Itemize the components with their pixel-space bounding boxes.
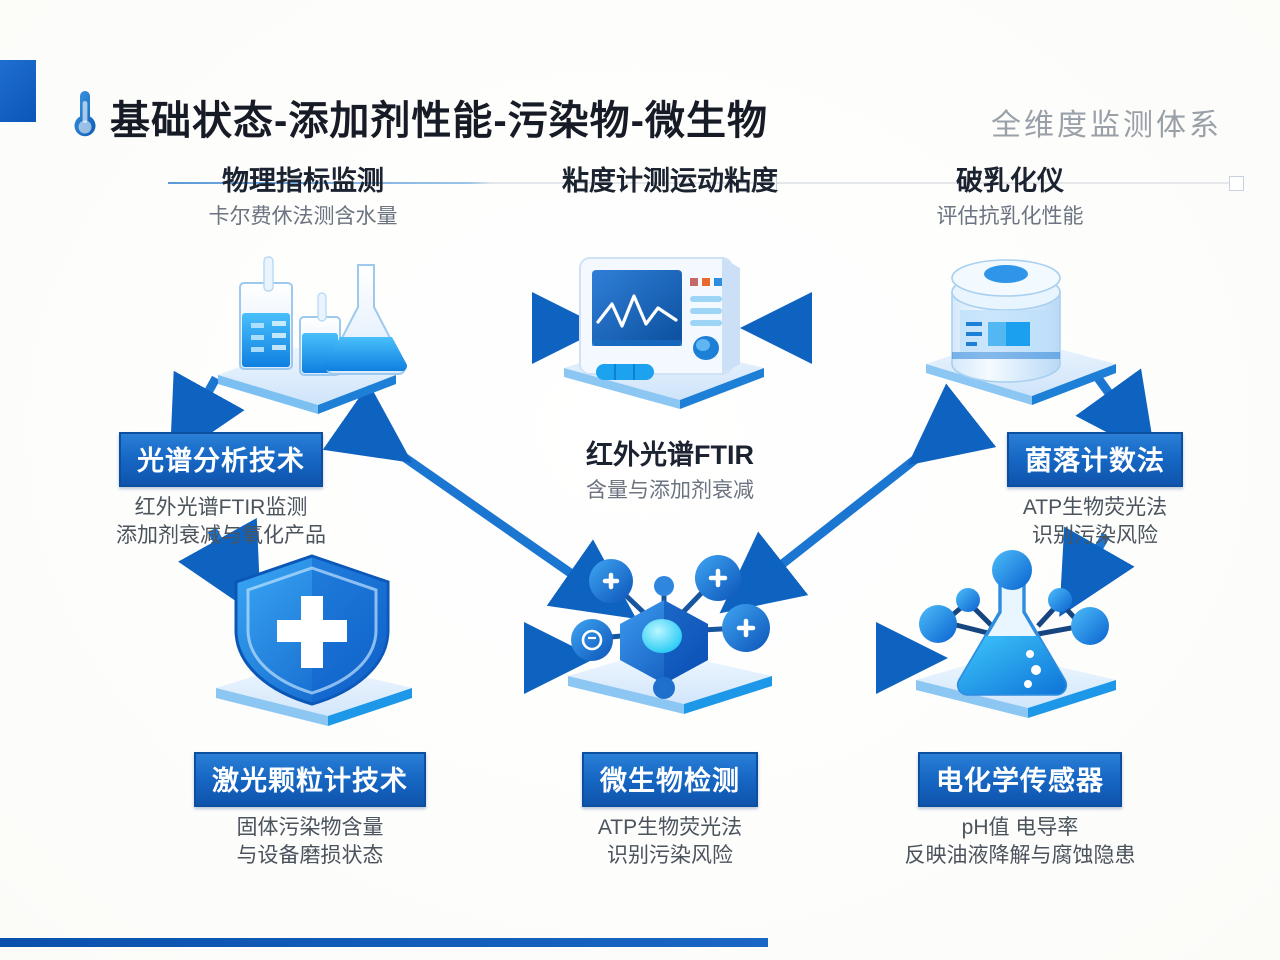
node-physical-index[interactable]: 物理指标监测 卡尔费休法测含水量: [168, 166, 438, 230]
node-subtitle: 含量与添加剂衰减: [520, 477, 820, 504]
status-badge[interactable]: 激光颗粒计技术: [194, 752, 426, 807]
footer-accent-bar: [0, 938, 768, 947]
node-title: 破乳化仪: [885, 166, 1135, 198]
hex-network-icon: [556, 548, 786, 728]
node-subtitle-line2: 识别污染风险: [960, 522, 1230, 550]
node-microbial-detection[interactable]: 微生物检测 ATP生物荧光法 识别污染风险: [540, 752, 800, 869]
node-subtitle-line2: 识别污染风险: [540, 842, 800, 870]
node-subtitle: 评估抗乳化性能: [885, 203, 1135, 230]
molecule-flask-icon: [900, 548, 1130, 738]
slide-canvas: 基础状态-添加剂性能-污染物-微生物 全维度监测体系: [0, 0, 1280, 960]
divider-marker-2: [1229, 176, 1244, 191]
page-title: 基础状态-添加剂性能-污染物-微生物: [110, 88, 768, 146]
node-subtitle-line1: 固体污染物含量: [155, 814, 465, 842]
node-subtitle-line1: ATP生物荧光法: [540, 814, 800, 842]
node-title: 红外光谱FTIR: [520, 440, 820, 472]
node-title: 粘度计测运动粘度: [520, 166, 820, 198]
node-colony-count[interactable]: 菌落计数法 ATP生物荧光法 识别污染风险: [960, 432, 1230, 549]
status-badge[interactable]: 微生物检测: [582, 752, 758, 807]
node-spectral-analysis[interactable]: 光谱分析技术 红外光谱FTIR监测 添加剂衰减与氧化产品: [76, 432, 366, 549]
slide-header: 基础状态-添加剂性能-污染物-微生物 全维度监测体系: [0, 52, 1280, 148]
shield-cross-icon: [200, 548, 430, 738]
node-subtitle-line2: 添加剂衰减与氧化产品: [76, 522, 366, 550]
node-title: 物理指标监测: [168, 166, 438, 198]
node-subtitle-line1: pH值 电导率: [860, 814, 1180, 842]
node-subtitle-line2: 反映油液降解与腐蚀隐患: [860, 842, 1180, 870]
node-laser-particle[interactable]: 激光颗粒计技术 固体污染物含量 与设备磨损状态: [155, 752, 465, 869]
waveform-monitor-icon: [556, 240, 786, 410]
status-badge[interactable]: 菌落计数法: [1007, 432, 1183, 487]
status-badge[interactable]: 光谱分析技术: [119, 432, 323, 487]
node-electrochemical-sensor[interactable]: 电化学传感器 pH值 电导率 反映油液降解与腐蚀隐患: [860, 752, 1180, 869]
node-viscometer[interactable]: 粘度计测运动粘度: [520, 166, 820, 198]
cylindrical-analyzer-icon: [910, 248, 1130, 408]
node-subtitle-line1: 红外光谱FTIR监测: [76, 494, 366, 522]
node-subtitle-line2: 与设备磨损状态: [155, 842, 465, 870]
node-subtitle: 卡尔费休法测含水量: [168, 203, 438, 230]
header-subtitle: 全维度监测体系: [991, 100, 1222, 144]
node-ftir-center[interactable]: 红外光谱FTIR 含量与添加剂衰减: [520, 440, 820, 504]
node-demulsifier[interactable]: 破乳化仪 评估抗乳化性能: [885, 166, 1135, 230]
status-badge[interactable]: 电化学传感器: [918, 752, 1122, 807]
lab-glassware-icon: [168, 255, 418, 405]
thermometer-icon: [68, 88, 102, 140]
node-subtitle-line1: ATP生物荧光法: [960, 494, 1230, 522]
header-accent-square: [0, 60, 36, 122]
